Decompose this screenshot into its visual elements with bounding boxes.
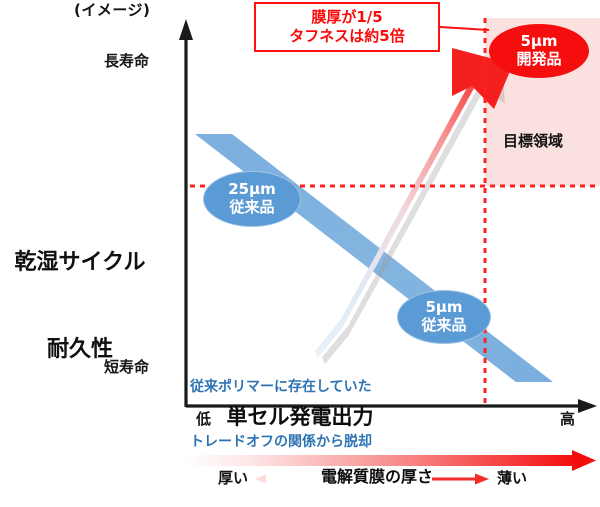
tradeoff-note-line-2: トレードオフの関係から脱却 (190, 433, 372, 451)
y-axis-title-line-1: 乾湿サイクル (6, 248, 154, 277)
figure-canvas: (イメージ) 膜厚が1/5 タフネスは約5倍 長寿命 短寿命 乾湿サイクル 耐久… (0, 0, 600, 507)
marker-developed-5um: 5μm 開発品 (489, 24, 589, 78)
legend-right-label: 薄い (497, 470, 527, 488)
y-axis-high-tick-label: 長寿命 (104, 53, 149, 71)
callout-line-1: 膜厚が1/5 (311, 8, 382, 27)
marker-5um-conventional-line-1: 5μm (425, 299, 462, 317)
callout-connector (440, 27, 489, 30)
callout-line-2: タフネスは約5倍 (289, 27, 404, 46)
marker-conventional-25um: 25μm 従来品 (203, 171, 301, 227)
tradeoff-note-line-1: 従来ポリマーに存在していた (190, 378, 372, 396)
legend-right-arrow (432, 474, 489, 485)
marker-5um-developed-line-2: 開発品 (516, 51, 561, 69)
y-axis-title: 乾湿サイクル 耐久性 (6, 190, 154, 422)
marker-25um-line-1: 25μm (228, 181, 276, 199)
marker-25um-line-2: 従来品 (229, 199, 274, 217)
y-axis-title-line-2: 耐久性 (6, 335, 154, 364)
marker-5um-developed-line-1: 5μm (520, 33, 557, 51)
legend-left-label: 厚い (218, 470, 248, 488)
target-region-label: 目標領域 (503, 133, 563, 151)
image-tag-label: (イメージ) (74, 2, 150, 20)
marker-5um-conventional-line-2: 従来品 (421, 317, 466, 335)
legend-title: 電解質膜の厚さ (321, 468, 433, 487)
x-axis-high-tick-label: 高 (560, 411, 575, 429)
callout-box: 膜厚が1/5 タフネスは約5倍 (254, 2, 440, 52)
x-axis-arrowhead (578, 399, 597, 413)
y-axis-arrowhead (179, 19, 193, 40)
marker-conventional-5um: 5μm 従来品 (397, 290, 491, 344)
